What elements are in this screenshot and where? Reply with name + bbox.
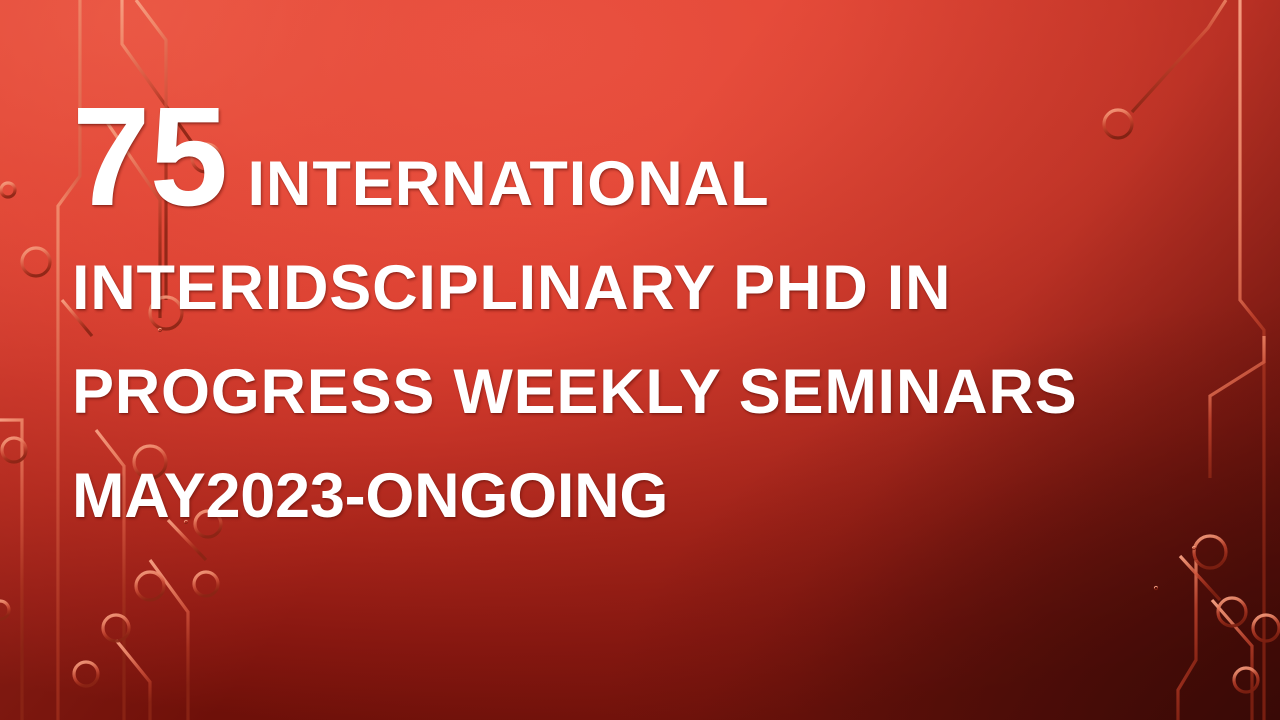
headline-line-1: 75 INTERNATIONAL: [72, 86, 1132, 227]
headline-line-3: PROGRESS WEEKLY SEMINARS: [72, 361, 1132, 424]
stat-number: 75: [72, 86, 227, 227]
headline-line-4: MAY2023-ONGOING: [72, 465, 1132, 528]
slide-canvas: 75 INTERNATIONAL INTERIDSCIPLINARY PHD I…: [0, 0, 1280, 720]
headline-line-2: INTERIDSCIPLINARY PHD IN: [72, 257, 1132, 320]
slide-headline-block: 75 INTERNATIONAL INTERIDSCIPLINARY PHD I…: [72, 86, 1132, 528]
headline-line-1-text: INTERNATIONAL: [247, 153, 769, 216]
